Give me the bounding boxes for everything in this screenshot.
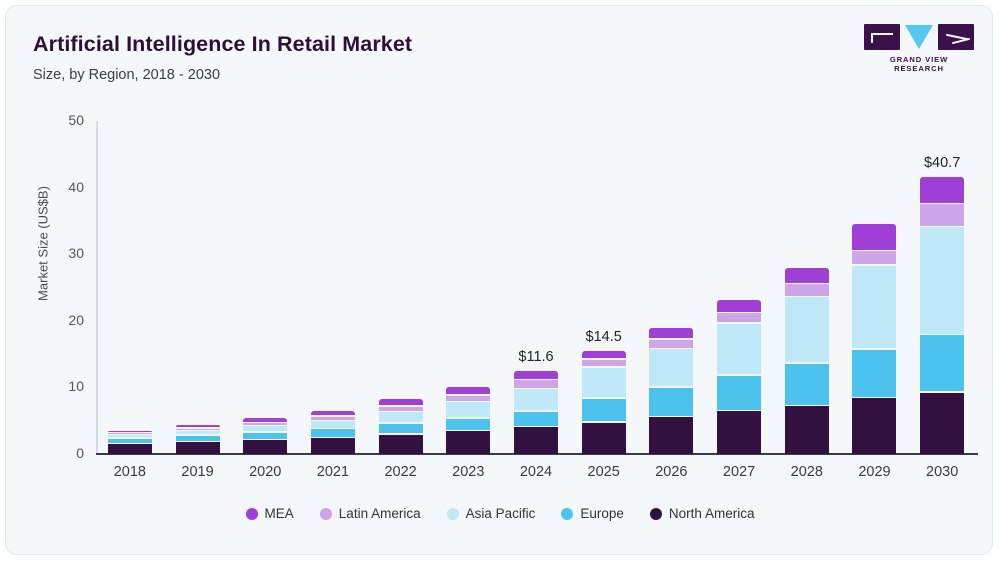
bar-segment-latin-america [108, 433, 152, 434]
bar-segment-mea [379, 399, 423, 405]
bar-segment-north-america [446, 431, 490, 454]
bar-segment-asia-pacific [379, 412, 423, 422]
bar-2029[interactable] [852, 224, 896, 454]
bar-segment-latin-america [920, 204, 964, 225]
logo-g-cut-top [871, 33, 893, 35]
bar-segment-latin-america [311, 417, 355, 420]
bar-segment-north-america [311, 438, 355, 454]
bar-segment-latin-america [582, 360, 626, 367]
bar-segment-asia-pacific [920, 227, 964, 334]
y-axis-tick-label: 40 [24, 179, 84, 195]
logo-mark [864, 24, 974, 52]
bar-segment-north-america [582, 423, 626, 454]
data-label-2025: $14.5 [554, 329, 654, 345]
grand-view-research-logo: GRAND VIEW RESEARCH [864, 24, 974, 72]
legend-item-latin-america[interactable]: Latin America [320, 506, 421, 521]
bar-segment-asia-pacific [852, 266, 896, 349]
plot-area: 01020304050 [96, 121, 976, 454]
bar-segment-asia-pacific [446, 402, 490, 417]
bar-segment-north-america [920, 393, 964, 454]
bar-segment-north-america [243, 440, 287, 454]
bar-2024[interactable] [514, 371, 558, 454]
bar-segment-latin-america [717, 313, 761, 322]
bar-segment-europe [108, 439, 152, 443]
page-title: Artificial Intelligence In Retail Market [33, 32, 412, 57]
bar-segment-mea [852, 224, 896, 249]
bar-2021[interactable] [311, 411, 355, 454]
legend-label: North America [669, 506, 755, 521]
bar-segment-latin-america [514, 380, 558, 387]
bar-2018[interactable] [108, 431, 152, 454]
bar-segment-north-america [514, 427, 558, 454]
chart-card: Artificial Intelligence In Retail Market… [5, 5, 993, 555]
bar-segment-latin-america [243, 423, 287, 425]
logo-r-block [938, 24, 974, 50]
legend-swatch-icon [447, 508, 459, 520]
legend-swatch-icon [650, 508, 662, 520]
bar-segment-asia-pacific [717, 324, 761, 375]
y-axis-tick-label: 30 [24, 245, 84, 261]
bar-2030[interactable] [920, 177, 964, 454]
bar-segment-mea [514, 371, 558, 379]
y-axis-tick-label: 20 [24, 312, 84, 328]
legend-label: Europe [580, 506, 624, 521]
legend-item-north-america[interactable]: North America [650, 506, 755, 521]
bar-2025[interactable] [582, 351, 626, 454]
bar-segment-latin-america [649, 340, 693, 348]
bar-segment-europe [243, 433, 287, 439]
bar-segment-asia-pacific [176, 431, 220, 434]
data-label-2030: $40.7 [892, 155, 992, 171]
bar-segment-mea [920, 177, 964, 203]
bar-segment-asia-pacific [649, 349, 693, 386]
bar-segment-mea [311, 411, 355, 416]
y-axis-tick-label: 0 [24, 445, 84, 461]
bar-segment-mea [108, 431, 152, 432]
bar-segment-asia-pacific [108, 435, 152, 437]
bar-segment-mea [785, 268, 829, 283]
bar-2019[interactable] [176, 425, 220, 454]
logo-r-cut-b [952, 38, 970, 44]
logo-wordmark: GRAND VIEW RESEARCH [864, 55, 974, 73]
legend-item-europe[interactable]: Europe [561, 506, 624, 521]
bar-segment-europe [379, 424, 423, 433]
bar-segment-europe [582, 399, 626, 422]
legend-item-asia-pacific[interactable]: Asia Pacific [447, 506, 536, 521]
bar-segment-north-america [108, 444, 152, 454]
logo-v-triangle-icon [905, 25, 933, 49]
bar-segment-asia-pacific [582, 368, 626, 397]
page-subtitle: Size, by Region, 2018 - 2030 [33, 67, 220, 83]
data-label-2024: $11.6 [486, 349, 586, 365]
bar-2023[interactable] [446, 387, 490, 454]
x-axis-tick-label: 2030 [902, 464, 982, 480]
legend-item-mea[interactable]: MEA [246, 506, 294, 521]
bar-segment-mea [446, 387, 490, 394]
legend-label: Asia Pacific [466, 506, 536, 521]
bar-segment-europe [920, 335, 964, 391]
bar-segment-north-america [852, 398, 896, 454]
bar-segment-mea [582, 351, 626, 358]
bar-segment-asia-pacific [311, 421, 355, 428]
bar-segment-latin-america [176, 429, 220, 430]
bar-2027[interactable] [717, 300, 761, 454]
bar-segment-latin-america [446, 396, 490, 401]
bar-segment-north-america [176, 442, 220, 454]
bar-segment-mea [176, 425, 220, 427]
bar-segment-mea [243, 418, 287, 421]
legend-label: Latin America [339, 506, 421, 521]
bar-segment-europe [717, 376, 761, 410]
bar-segment-asia-pacific [243, 426, 287, 431]
bar-segment-north-america [785, 406, 829, 454]
bar-segment-europe [785, 364, 829, 405]
bar-segment-mea [649, 328, 693, 338]
bar-segment-europe [649, 388, 693, 416]
bar-segment-north-america [717, 411, 761, 454]
legend-swatch-icon [246, 508, 258, 520]
legend-swatch-icon [561, 508, 573, 520]
bar-segment-mea [717, 300, 761, 311]
y-axis-tick-label: 10 [24, 378, 84, 394]
bar-segment-north-america [379, 435, 423, 454]
bar-2022[interactable] [379, 399, 423, 454]
bar-2020[interactable] [243, 418, 287, 454]
bar-segment-europe [514, 412, 558, 426]
bar-segment-europe [852, 350, 896, 397]
bar-segment-europe [446, 419, 490, 430]
logo-g-cut-side [871, 33, 873, 43]
legend-swatch-icon [320, 508, 332, 520]
bar-segment-north-america [649, 417, 693, 454]
bar-segment-latin-america [785, 284, 829, 295]
bar-segment-europe [176, 436, 220, 441]
bar-segment-latin-america [379, 407, 423, 411]
legend-label: MEA [265, 506, 294, 521]
bar-segment-asia-pacific [514, 389, 558, 410]
logo-g-block [864, 24, 900, 50]
bar-segment-asia-pacific [785, 297, 829, 362]
bar-2028[interactable] [785, 268, 829, 454]
bar-segment-europe [311, 429, 355, 436]
bar-segment-latin-america [852, 251, 896, 264]
chart-legend: MEALatin AmericaAsia PacificEuropeNorth … [6, 506, 993, 521]
y-axis-tick-label: 50 [24, 112, 84, 128]
bar-2026[interactable] [649, 328, 693, 454]
